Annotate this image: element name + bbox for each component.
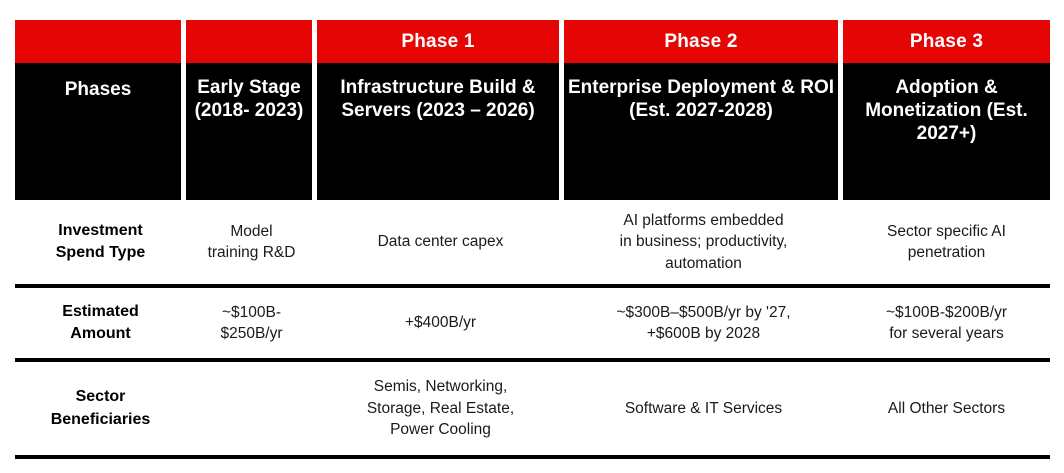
row-label-investment-spend-type: Investment Spend Type [15,200,186,284]
cell-sector-phase-1: Semis, Networking, Storage, Real Estate,… [317,362,564,455]
phase-band-cell-0 [15,20,186,63]
column-header-early-stage: Early Stage (2018- 2023) [186,63,317,200]
phase-band-row: Phase 1 Phase 2 Phase 3 [15,20,1050,63]
phase-band-cell-phase-2: Phase 2 [564,20,843,63]
row-label-estimated-amount: Estimated Amount [15,288,186,358]
column-header-enterprise: Enterprise Deployment & ROI (Est. 2027-2… [564,63,843,200]
column-header-row: Phases Early Stage (2018- 2023) Infrastr… [15,63,1050,200]
cell-sector-phase-3: All Other Sectors [843,362,1050,455]
cell-amount-early-stage: ~$100B- $250B/yr [186,288,317,358]
column-header-adoption: Adoption & Monetization (Est. 2027+) [843,63,1050,200]
cell-amount-phase-2: ~$300B–$500B/yr by '27, +$600B by 2028 [564,288,843,358]
phase-band-cell-phase-1: Phase 1 [317,20,564,63]
table-row: Estimated Amount ~$100B- $250B/yr +$400B… [15,288,1050,362]
cell-investment-early-stage: Model training R&D [186,200,317,284]
cell-sector-phase-2: Software & IT Services [564,362,843,455]
phase-band-cell-phase-3: Phase 3 [843,20,1050,63]
cell-investment-phase-1: Data center capex [317,200,564,284]
cell-investment-phase-2: AI platforms embedded in business; produ… [564,200,843,284]
column-header-infrastructure: Infrastructure Build & Servers (2023 – 2… [317,63,564,200]
phases-table: Phase 1 Phase 2 Phase 3 Phases Early Sta… [15,20,1050,463]
table-row: Sector Beneficiaries Semis, Networking, … [15,362,1050,459]
cell-amount-phase-3: ~$100B-$200B/yr for several years [843,288,1050,358]
cell-sector-early-stage [186,362,317,455]
cell-amount-phase-1: +$400B/yr [317,288,564,358]
row-label-sector-beneficiaries: Sector Beneficiaries [15,362,186,455]
cell-investment-phase-3: Sector specific AI penetration [843,200,1050,284]
phase-band-cell-1 [186,20,317,63]
table-row: Investment Spend Type Model training R&D… [15,200,1050,288]
column-header-phases: Phases [15,63,186,200]
